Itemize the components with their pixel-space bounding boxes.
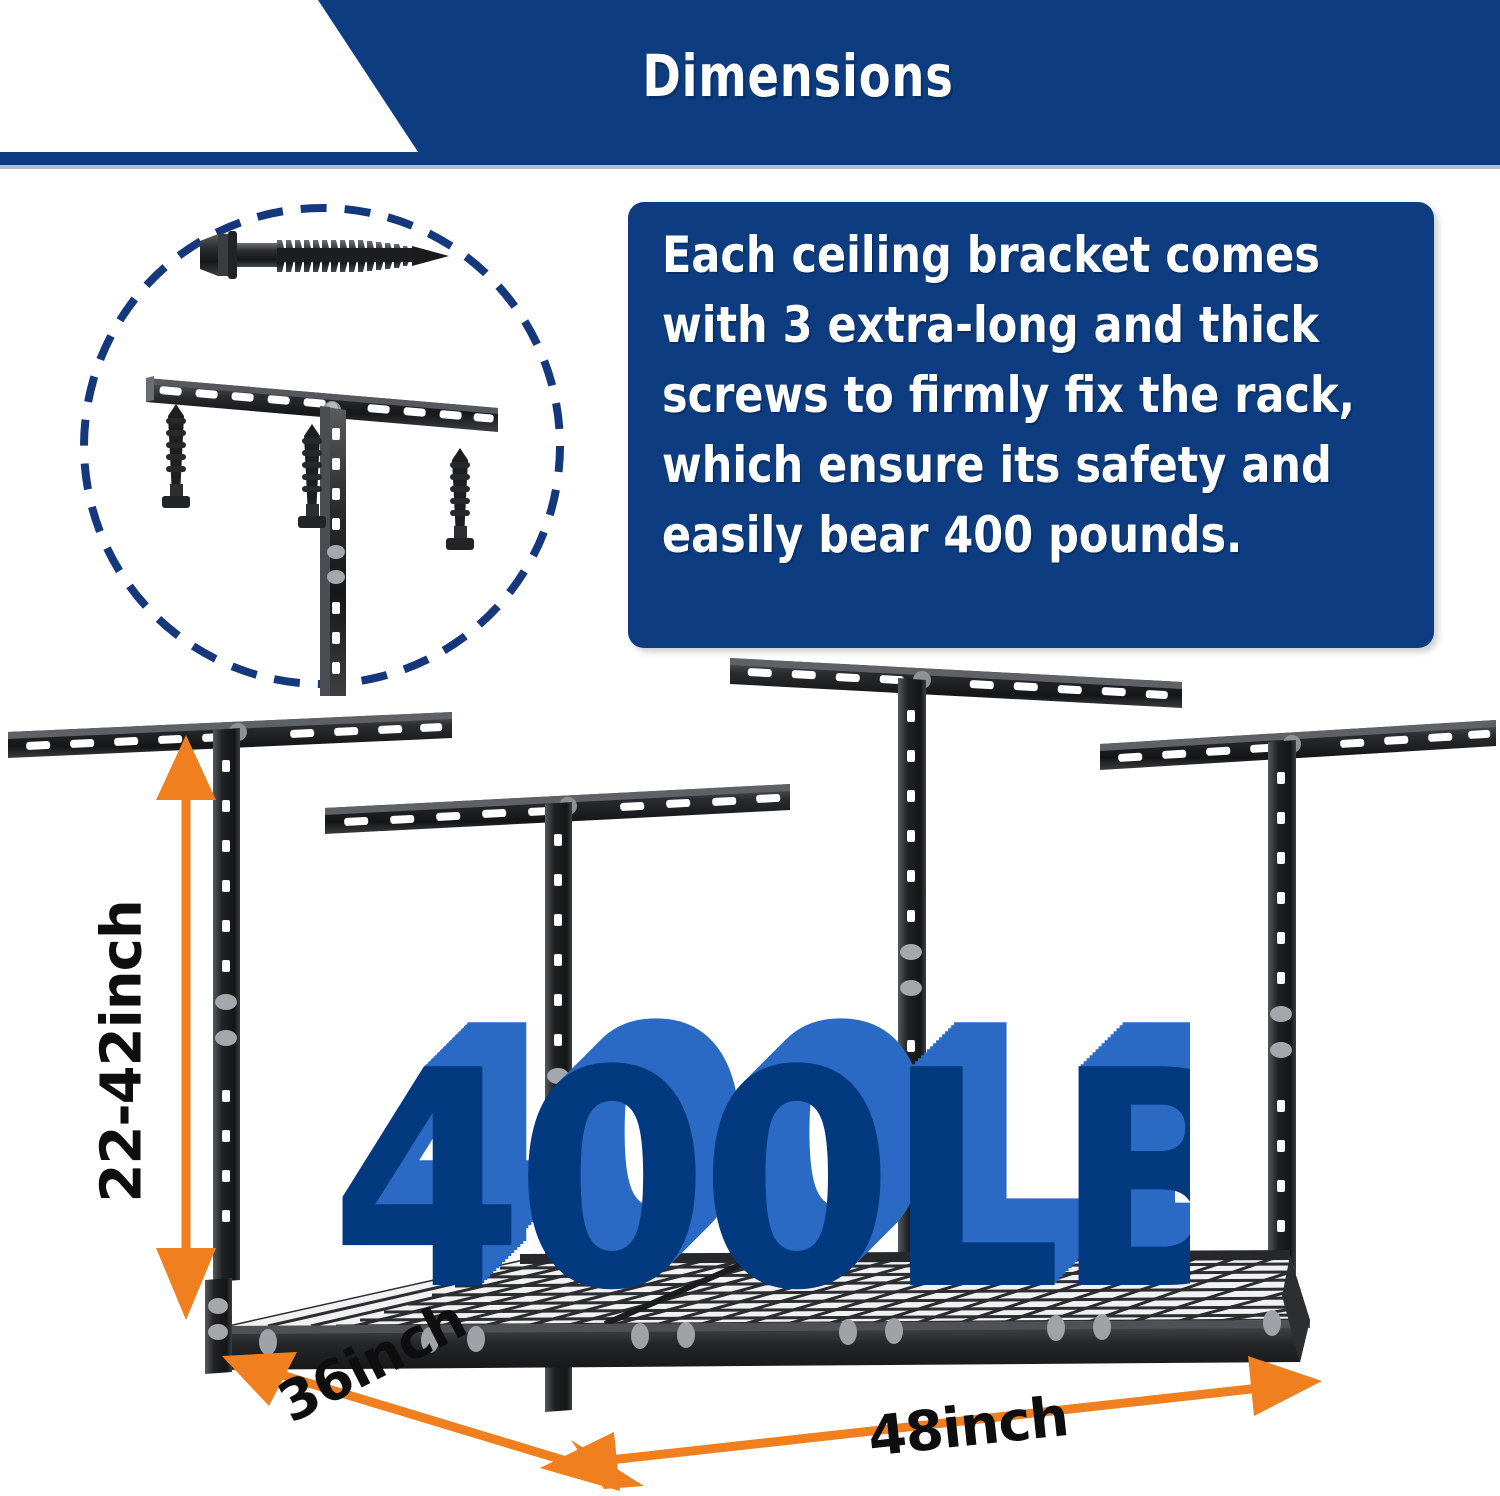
height-dimension-label: 22-42inch — [90, 943, 155, 1203]
ceiling-bracket-assembly-1 — [8, 712, 452, 1282]
feature-callout-box: Each ceiling bracket comes with 3 extra-… — [628, 202, 1434, 648]
rack-illustration — [0, 620, 1500, 1496]
bracket-screw-1 — [162, 404, 190, 508]
header-banner: Dimensions — [0, 0, 1500, 152]
header-divider-rule — [0, 165, 1500, 169]
page-title: Dimensions — [150, 0, 1350, 152]
bracket-screw-3 — [446, 448, 474, 550]
header-underline — [0, 152, 1500, 165]
rack-corner-left — [205, 1278, 232, 1374]
feature-callout-text: Each ceiling bracket comes with 3 extra-… — [662, 220, 1436, 570]
lag-screw-large-icon — [200, 231, 449, 279]
ceiling-bracket-assembly-4 — [1100, 720, 1496, 1340]
infographic-canvas: Dimensions — [0, 0, 1500, 1496]
